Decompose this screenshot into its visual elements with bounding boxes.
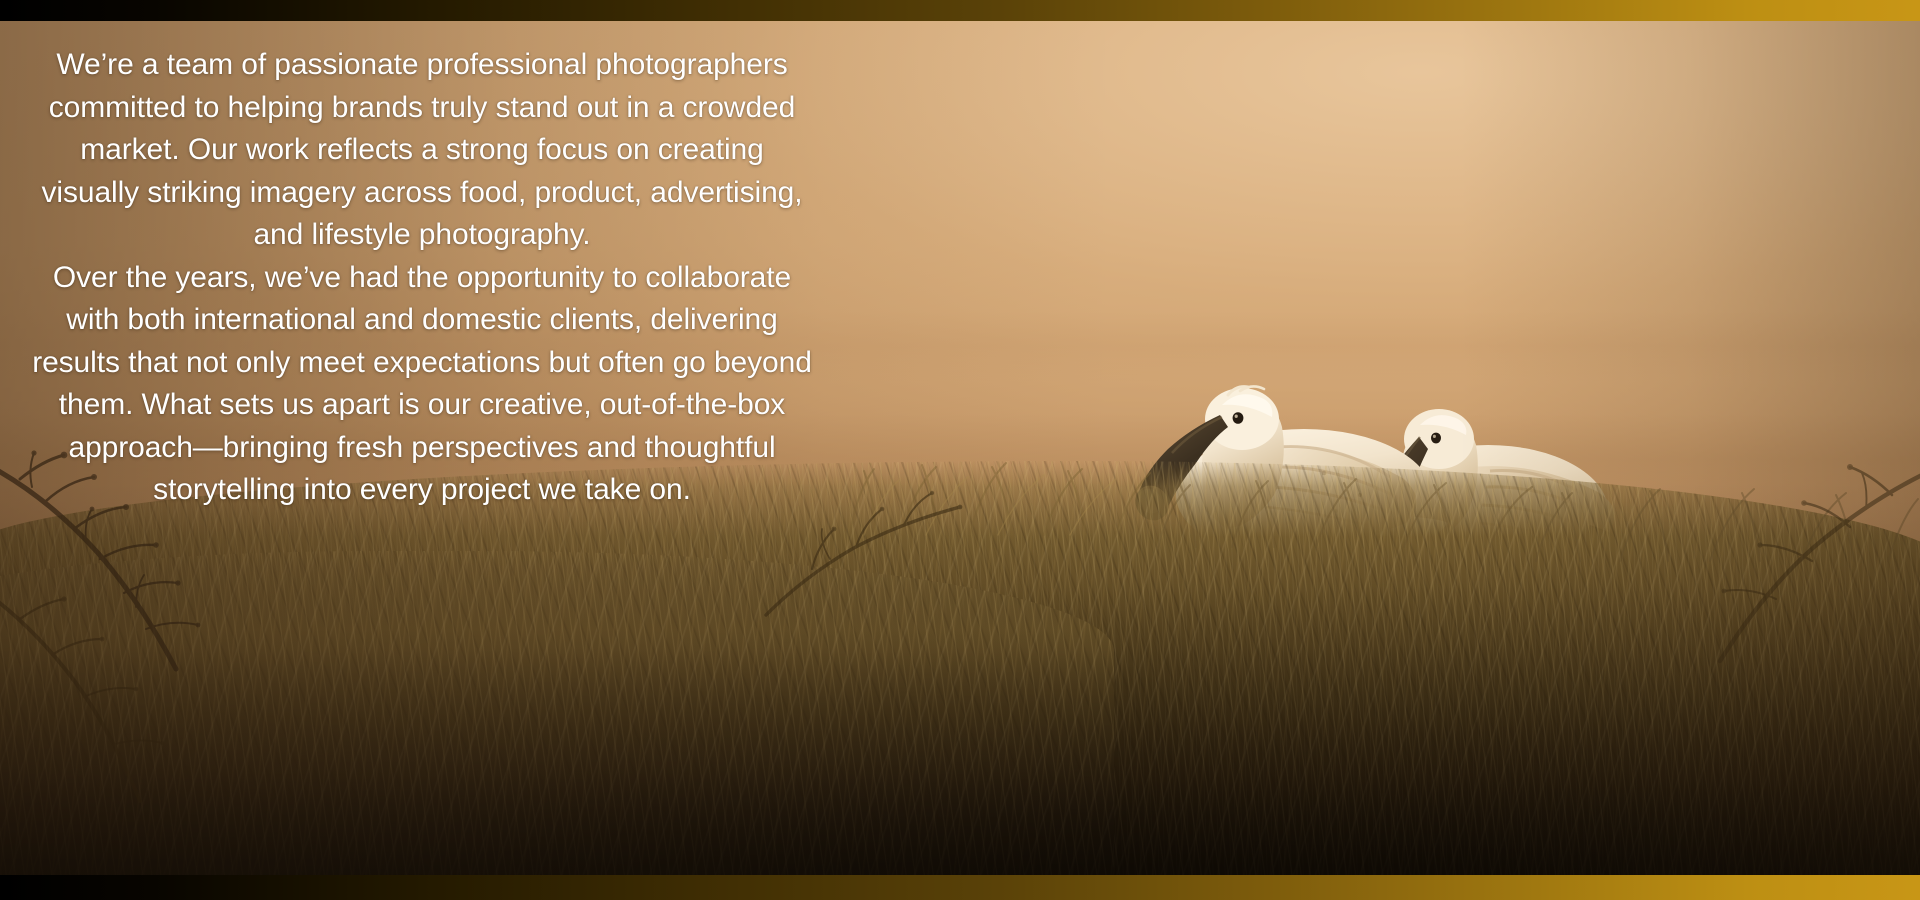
about-paragraph-1: We’re a team of passionate professional … — [32, 44, 812, 257]
bottom-vignette — [0, 482, 1920, 875]
about-paragraph-2: Over the years, we’ve had the opportunit… — [32, 257, 812, 512]
about-copy-block: We’re a team of passionate professional … — [32, 44, 812, 512]
bottom-accent-bar — [0, 875, 1920, 900]
top-accent-bar — [0, 0, 1920, 21]
hero-section: We’re a team of passionate professional … — [0, 0, 1920, 900]
